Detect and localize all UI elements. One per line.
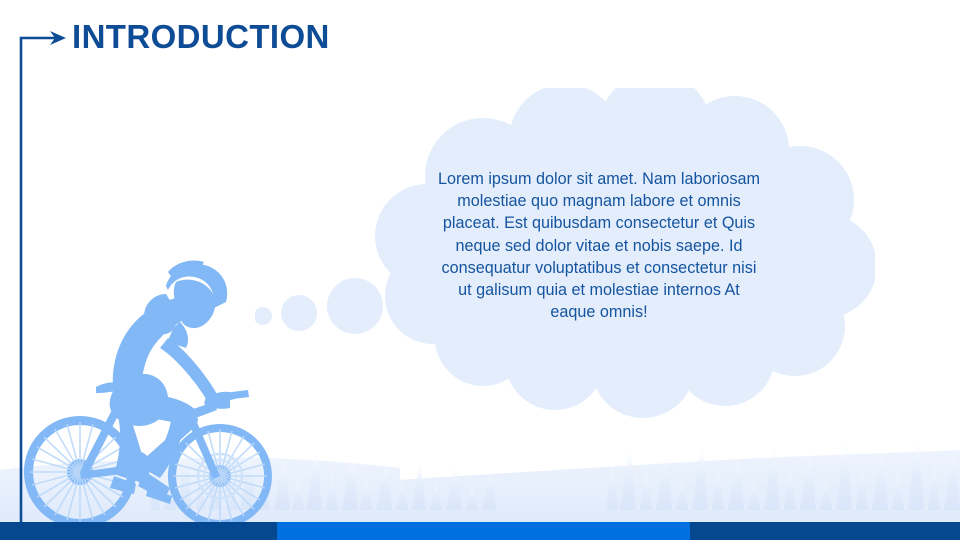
bar-segment-middle [277, 522, 690, 540]
left-marker [0, 0, 120, 540]
slide-canvas: Lorem ipsum dolor sit amet. Nam laborios… [0, 0, 960, 540]
bubble-body-text: Lorem ipsum dolor sit amet. Nam laborios… [437, 168, 761, 323]
bar-segment-left [0, 522, 277, 540]
page-title: INTRODUCTION [72, 18, 330, 56]
bottom-bar [0, 522, 960, 540]
bar-segment-right [690, 522, 960, 540]
arrow-right-icon [0, 0, 120, 540]
bubble-dot-large [327, 278, 383, 334]
